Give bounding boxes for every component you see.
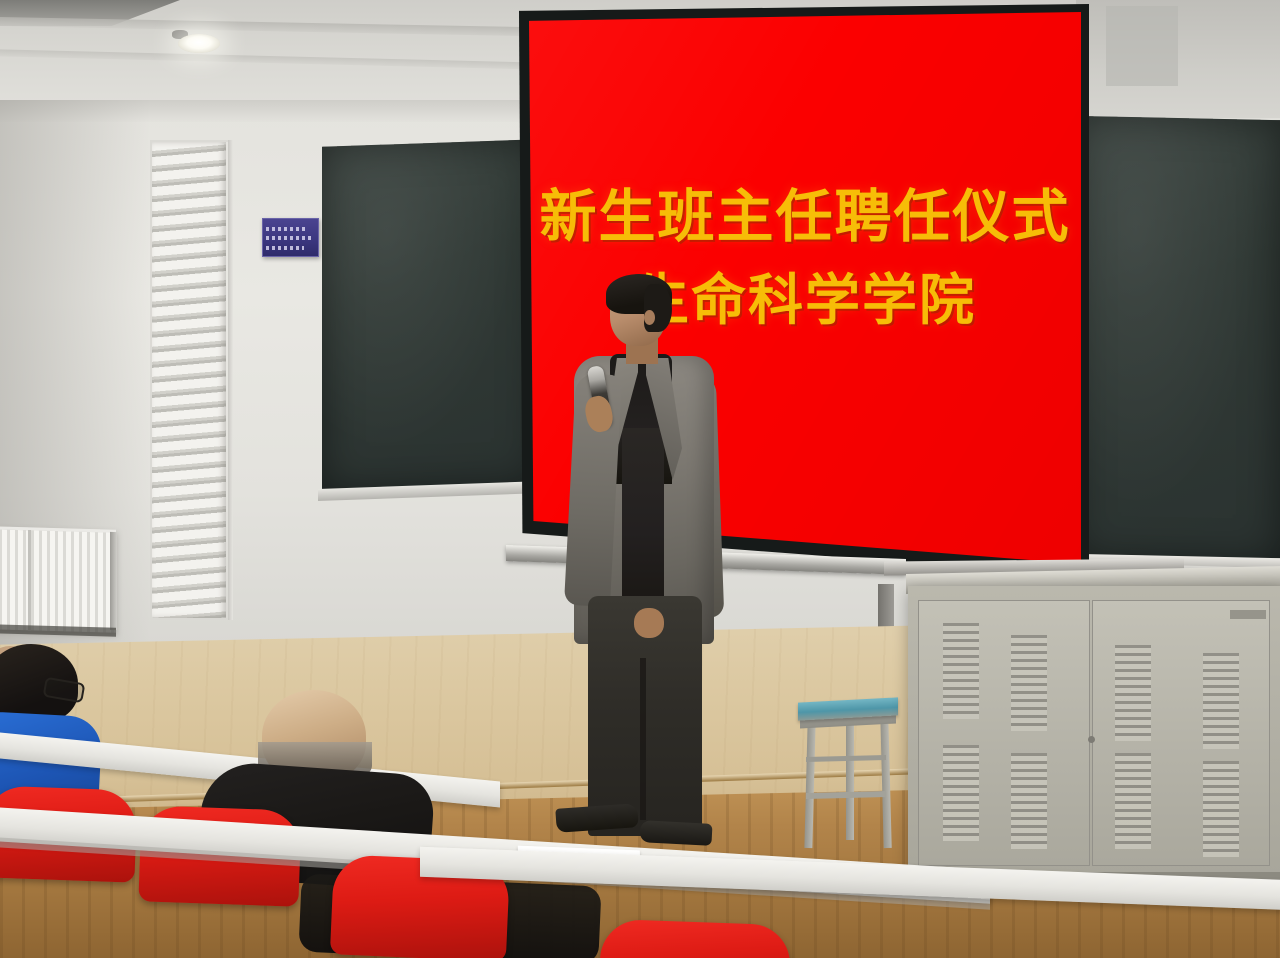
cabinet-vent-icon	[1011, 753, 1047, 849]
wall-right-panel-inset	[1106, 6, 1178, 86]
cabinet-vent-icon	[1203, 761, 1239, 857]
white-column-radiator	[0, 526, 116, 632]
banner-title-line-1: 新生班主任聘任仪式	[540, 188, 1071, 245]
ceiling-downlight-icon	[178, 34, 220, 53]
radiator-segment-divider	[28, 530, 31, 630]
wall-placard-sign	[262, 218, 319, 257]
cabinet-vent-icon	[1203, 653, 1239, 749]
louver-frame	[150, 140, 230, 620]
chalkboard-left	[322, 139, 538, 492]
presenter-jacket-opening	[622, 428, 664, 618]
cabinet-label-plate	[1230, 610, 1266, 619]
cabinet-vent-icon	[1115, 753, 1151, 849]
presenter-leg-separation	[640, 658, 646, 820]
lecture-hall-photo: 新生班主任聘任仪式 生命科学学院	[0, 0, 1280, 958]
louver-edge	[228, 140, 233, 620]
presenter-shoe-right	[639, 820, 712, 846]
presenter	[548, 278, 738, 838]
cabinet-vent-icon	[943, 745, 979, 841]
cabinet-door-left[interactable]	[918, 600, 1090, 866]
cabinet-door-right[interactable]	[1092, 600, 1270, 866]
cabinet-lock-knob[interactable]	[1088, 736, 1095, 743]
cabinet-vent-icon	[1011, 635, 1047, 731]
equipment-cabinet	[908, 586, 1280, 878]
placard-text-lines	[266, 224, 315, 253]
chalkboard-right	[1074, 116, 1280, 563]
stool-leg-back	[846, 720, 854, 840]
cabinet-vent-icon	[943, 623, 979, 719]
presenter-hand-lower	[634, 608, 664, 638]
radiator-pipe	[110, 532, 117, 630]
cabinet-vent-icon	[1115, 645, 1151, 741]
audience-member-left	[0, 644, 96, 794]
presenter-ear	[644, 310, 655, 325]
